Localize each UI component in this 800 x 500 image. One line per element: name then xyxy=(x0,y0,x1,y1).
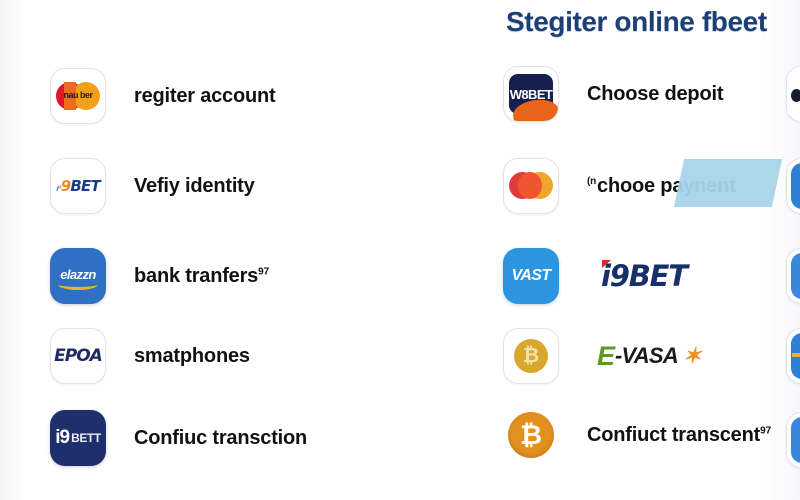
mastercard-icon-text: nau ber xyxy=(56,90,100,100)
list-item[interactable]: W8BET Choose depoit xyxy=(503,66,723,122)
list-item[interactable]: ₿ E-VASA✶ xyxy=(503,328,701,384)
page-title: Stegiter online fbeet xyxy=(506,6,767,38)
white-tile-icon[interactable] xyxy=(786,66,800,122)
list-item-label: Confiuc transction xyxy=(134,427,307,450)
list-item[interactable]: ı⁰9BET Vefiy identity xyxy=(50,158,255,214)
list-item-label: bank tranfers97 xyxy=(134,265,269,288)
payment-steps-board: Stegiter online fbeet nau ber regiter ac… xyxy=(0,0,800,500)
epoa-icon-text: EPOA xyxy=(54,346,102,366)
blue-tile-icon[interactable] xyxy=(786,328,800,384)
blue-tile-icon[interactable] xyxy=(786,412,800,468)
vast-icon-text: VAST xyxy=(511,267,550,285)
list-item-label: (nchooe paynent xyxy=(587,175,736,198)
gold-coin-icon: ₿ xyxy=(503,328,559,384)
list-item-label: smatphones xyxy=(134,345,250,368)
list-item-label: Confiuct transcent97 xyxy=(587,424,771,447)
red-triangle-icon xyxy=(602,260,611,268)
list-item-label: regiter account xyxy=(134,85,275,108)
evasa-logo: E-VASA✶ xyxy=(597,341,701,372)
list-item[interactable]: VAST i9BET xyxy=(503,248,687,304)
amazon-tile-icon: elazzn xyxy=(50,248,106,304)
w8bet-navy-tile-icon: W8BET xyxy=(503,66,559,122)
list-item[interactable]: EPOA smatphones xyxy=(50,328,250,384)
amazon-swoosh-icon xyxy=(58,279,98,290)
list-item[interactable]: nau ber regiter account xyxy=(50,68,275,124)
list-item[interactable]: (nchooe paynent xyxy=(503,158,736,214)
list-item[interactable]: elazzn bank tranfers97 xyxy=(50,248,269,304)
bitcoin-circle-icon: ₿ xyxy=(503,412,559,458)
list-item[interactable]: i9BETT Confiuc transction xyxy=(50,410,307,466)
blue-tile-icon[interactable] xyxy=(786,158,800,214)
list-item-label: Choose depoit xyxy=(587,83,723,106)
list-item-label: Vefiy identity xyxy=(134,175,255,198)
vast-blue-tile-icon: VAST xyxy=(503,248,559,304)
w8bet-icon-text: W8BET xyxy=(510,87,553,102)
epoa-wordmark-icon: EPOA xyxy=(50,328,106,384)
blue-tile-icon[interactable] xyxy=(786,248,800,304)
i9bet-logo-icon: ı⁰9BET xyxy=(50,158,106,214)
star-swoosh-icon: ✶ xyxy=(683,345,701,367)
mastercard-circles-icon: nau ber xyxy=(50,68,106,124)
mastercard-circles-icon xyxy=(503,158,559,214)
highlight-banner-shape xyxy=(674,159,782,207)
list-item[interactable]: ₿ Confiuct transcent97 xyxy=(503,412,771,458)
i9bett-navy-tile-icon: i9BETT xyxy=(50,410,106,466)
i9bet-logo: i9BET xyxy=(601,259,687,293)
